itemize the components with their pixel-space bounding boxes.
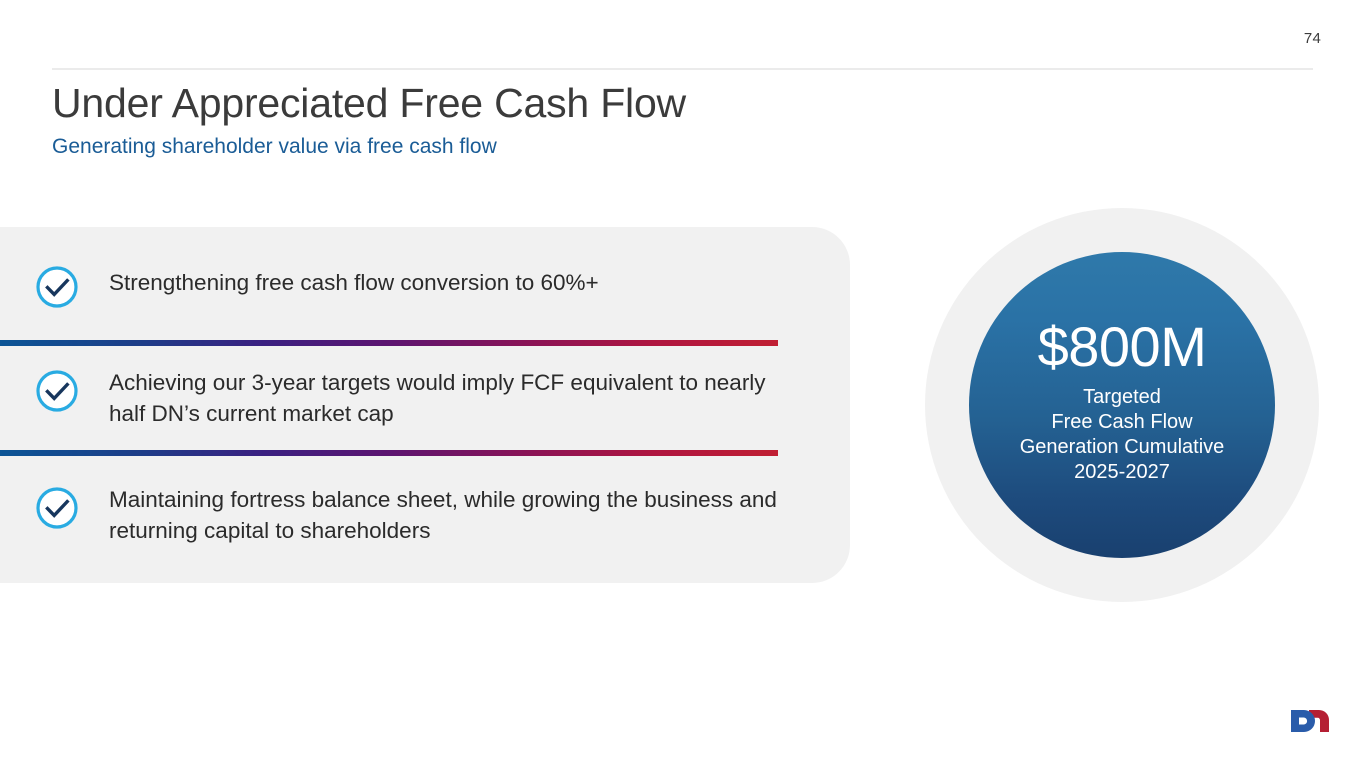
list-item-label: Maintaining fortress balance sheet, whil… — [109, 484, 799, 546]
list-item: Achieving our 3-year targets would imply… — [0, 367, 800, 429]
callout-amount: $800M — [1038, 317, 1207, 377]
list-item: Maintaining fortress balance sheet, whil… — [0, 484, 800, 546]
fcf-callout: $800M Targeted Free Cash Flow Generation… — [925, 208, 1319, 602]
slide-canvas: 74 Under Appreciated Free Cash Flow Gene… — [0, 0, 1365, 768]
gradient-divider-1 — [0, 340, 778, 346]
page-title: Under Appreciated Free Cash Flow — [52, 80, 686, 127]
list-item-label: Achieving our 3-year targets would imply… — [109, 367, 799, 429]
list-item-label: Strengthening free cash flow conversion … — [109, 267, 599, 298]
page-number: 74 — [1304, 30, 1321, 47]
dn-logo — [1285, 704, 1335, 738]
gradient-divider-2 — [0, 450, 778, 456]
check-circle-icon — [35, 369, 79, 413]
bullet-list: Strengthening free cash flow conversion … — [0, 227, 850, 583]
page-subtitle: Generating shareholder value via free ca… — [52, 135, 497, 159]
callout-caption-line-3: Generation Cumulative — [1020, 435, 1225, 460]
callout-caption-line-2: Free Cash Flow — [1020, 410, 1225, 435]
check-circle-icon — [35, 486, 79, 530]
list-item: Strengthening free cash flow conversion … — [0, 263, 800, 309]
check-circle-icon — [35, 265, 79, 309]
header-divider-rule — [52, 68, 1313, 70]
callout-circle: $800M Targeted Free Cash Flow Generation… — [969, 252, 1275, 558]
callout-caption-line-1: Targeted — [1020, 385, 1225, 410]
callout-caption: Targeted Free Cash Flow Generation Cumul… — [1020, 385, 1225, 485]
callout-caption-line-4: 2025-2027 — [1020, 460, 1225, 485]
